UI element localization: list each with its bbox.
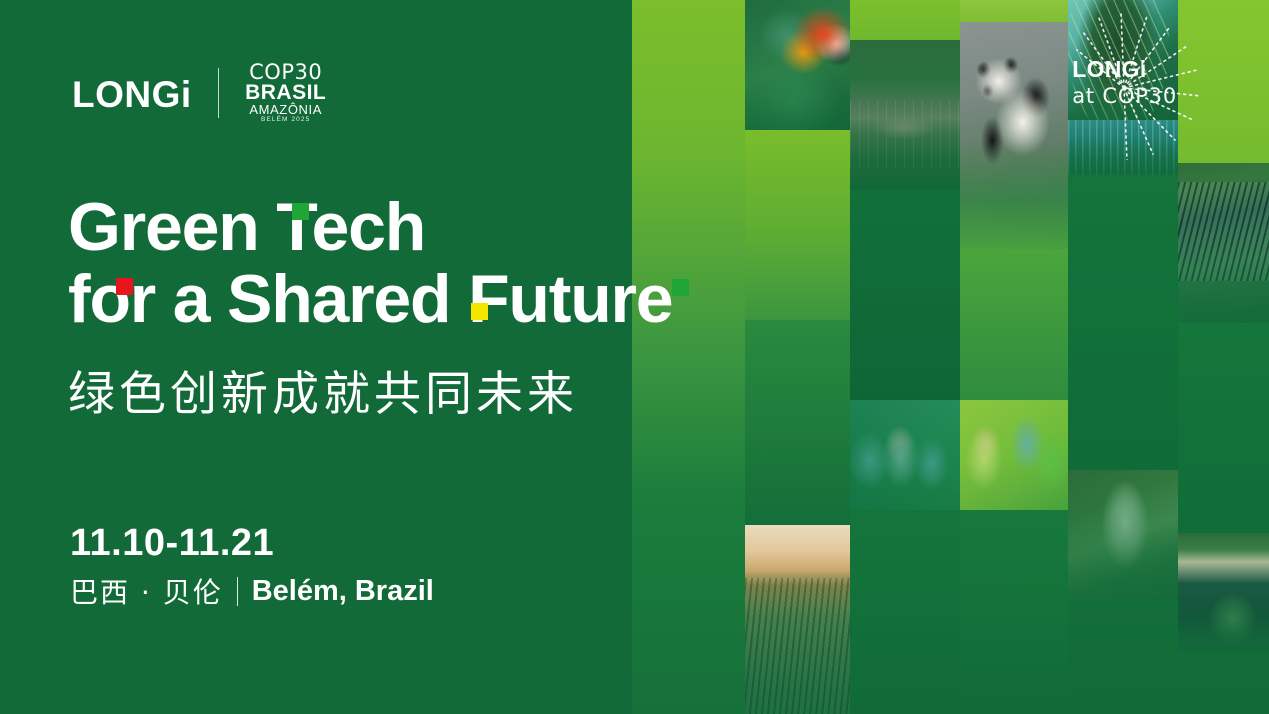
photo-solar-turbine-render [1068, 120, 1178, 175]
headline-line-2: for a Shared Future [68, 265, 828, 333]
headline-line-1-text: Green Tech [68, 189, 425, 265]
headline-subtitle-cn: 绿色创新成就共同未来 [68, 355, 578, 424]
cop30-logo-line2: BRASIL [245, 82, 327, 103]
accent-square-green [292, 203, 309, 220]
cop30-logo-line1: COP30 [245, 62, 327, 83]
tile-green-long [1178, 323, 1269, 533]
tile-lime-top [850, 0, 960, 40]
mosaic-column-3 [850, 0, 960, 714]
tile-green-base [1068, 600, 1178, 714]
logo-divider [218, 68, 219, 118]
accent-square-green-2 [672, 279, 689, 296]
longi-at-cop30-badge: LONGi at COP30 [1072, 58, 1177, 107]
event-location: 巴西 · 贝伦 Belém, Brazil [70, 571, 434, 611]
mosaic-column-1 [632, 0, 745, 714]
cop30-logo-line3: AMAZÔNIA [245, 103, 327, 116]
logo-lockup: LONGi COP30 BRASIL AMAZÔNIA BELÉM 2025 [72, 62, 327, 124]
headline-block: Green Tech for a Shared Future [68, 193, 828, 333]
tile-green-foot [1178, 653, 1269, 714]
photo-giant-panda [960, 22, 1068, 250]
photo-children-raised-hands [850, 400, 960, 510]
photo-children-lime-tint [960, 400, 1068, 510]
photo-solar-farm-sunset [745, 525, 850, 714]
event-location-cn: 巴西 · 贝伦 [70, 571, 223, 611]
cop30-logo: COP30 BRASIL AMAZÔNIA BELÉM 2025 [245, 62, 327, 124]
campaign-banner: LONGi COP30 BRASIL AMAZÔNIA BELÉM 2025 G… [0, 0, 1269, 714]
tile-lime-burst [1178, 0, 1269, 163]
headline-line-2-text: for a Shared Future [68, 261, 672, 337]
mosaic-column-2 [745, 0, 850, 714]
cop30-logo-line4: BELÉM 2025 [245, 117, 327, 124]
accent-square-red [116, 278, 133, 295]
longi-wordmark: LONGi [72, 76, 192, 113]
photo-mangrove-water [1178, 533, 1269, 653]
tile-mid-green [850, 190, 960, 400]
photo-stilt-houses-solar [850, 40, 960, 190]
tile-bottom-green [850, 510, 960, 714]
mosaic-column-6 [1178, 0, 1269, 714]
badge-line-2: at COP30 [1072, 86, 1177, 107]
event-dates: 11.10-11.21 [70, 522, 274, 565]
tile-deep-bottom [960, 510, 1068, 714]
tile-green-fade [960, 250, 1068, 400]
tile-lime-sliver [960, 0, 1068, 22]
mosaic-column-4 [960, 0, 1068, 714]
tile-deep-green [745, 320, 850, 525]
tile-solid-green [632, 500, 745, 714]
event-location-en: Belém, Brazil [252, 575, 434, 608]
photo-solar-field-aerial [1178, 163, 1269, 323]
tile-green-mid [1068, 175, 1178, 470]
headline-line-1: Green Tech [68, 193, 828, 261]
photo-river-rainforest [1068, 470, 1178, 600]
badge-line-1: LONGi [1072, 58, 1177, 81]
photo-macaw-parrot [745, 0, 850, 130]
location-divider [237, 577, 238, 606]
accent-square-yellow [471, 303, 488, 320]
